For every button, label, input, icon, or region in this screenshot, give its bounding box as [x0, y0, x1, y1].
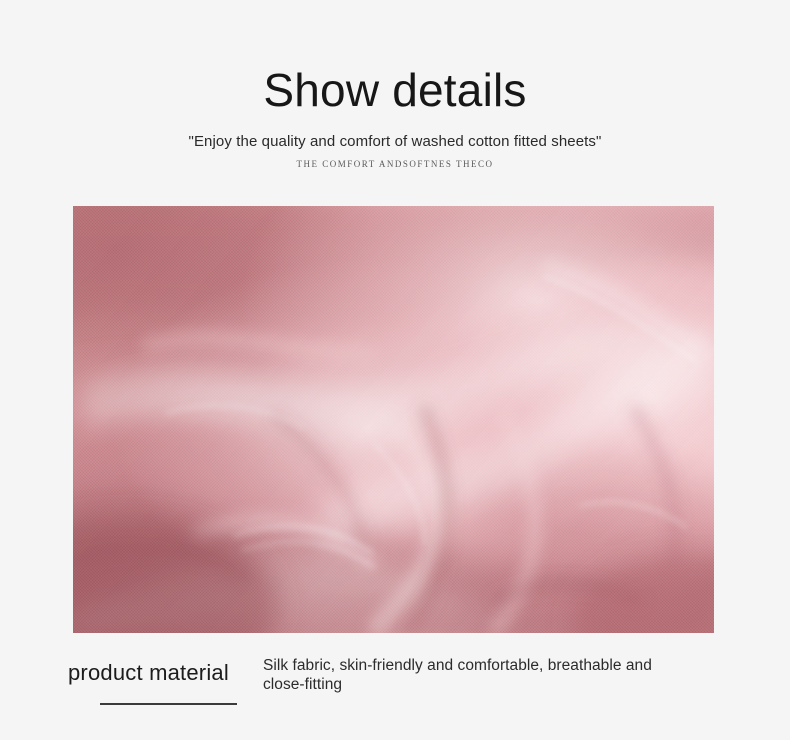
page-subtitle: "Enjoy the quality and comfort of washed…: [0, 118, 790, 152]
product-material-underline: [100, 703, 237, 705]
fabric-photo: [73, 206, 714, 633]
product-detail-page: Show details "Enjoy the quality and comf…: [0, 0, 790, 740]
product-material-label: product material: [68, 659, 229, 687]
product-material-description: Silk fabric, skin-friendly and comfortab…: [263, 656, 693, 694]
product-material-section: product material Silk fabric, skin-frien…: [0, 650, 790, 740]
page-title: Show details: [0, 0, 790, 118]
page-eyebrow-caption: THE COMFORT ANDSOFTNES THECO: [0, 152, 790, 171]
fabric-photo-illustration: [73, 206, 714, 633]
page-header: Show details "Enjoy the quality and comf…: [0, 0, 790, 171]
